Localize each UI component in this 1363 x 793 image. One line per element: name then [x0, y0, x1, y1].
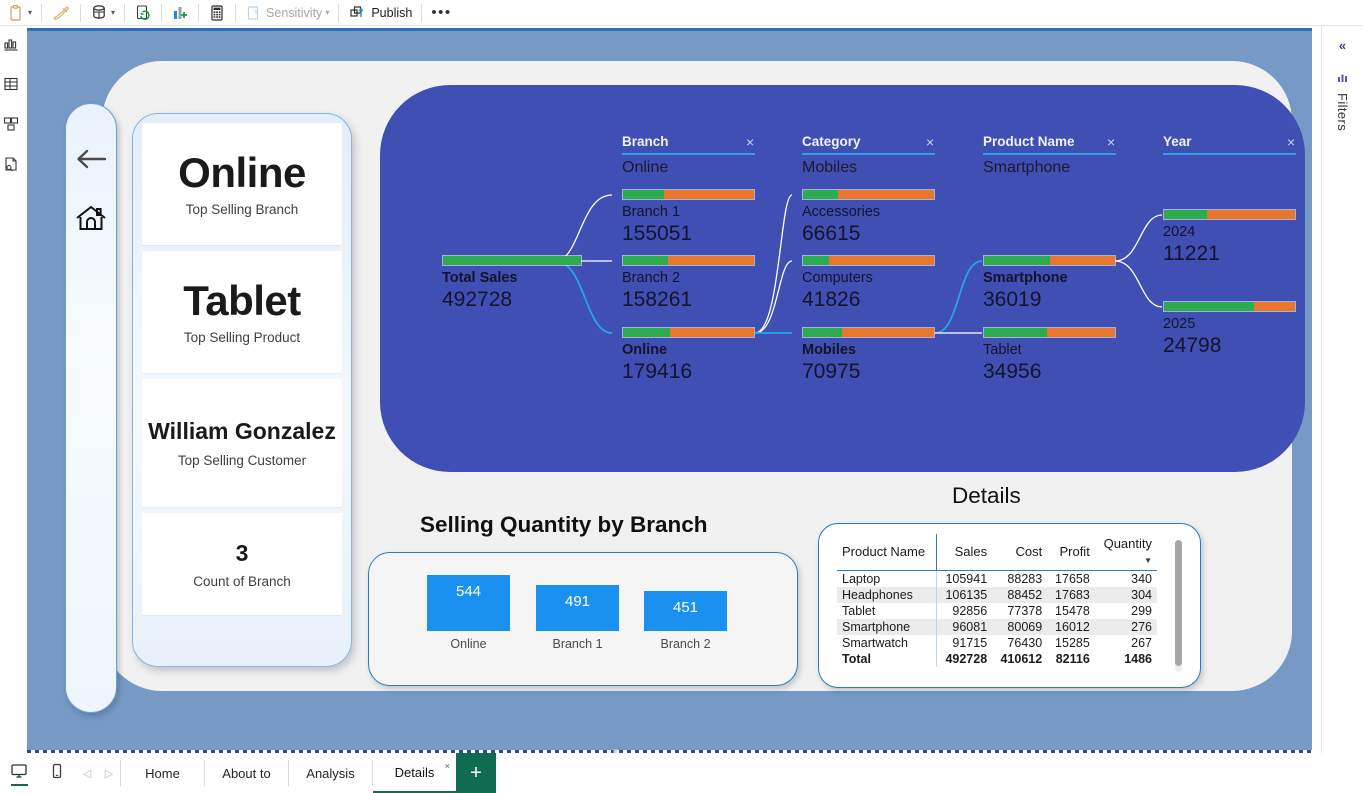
divider: [80, 4, 81, 22]
bar-category-label: Online: [450, 637, 486, 651]
publish-icon: [348, 4, 368, 22]
cell-cost: 80069: [992, 619, 1047, 635]
dtree-node-value: 158261: [622, 288, 755, 312]
dtree-remove-category-level[interactable]: ×: [926, 135, 934, 149]
back-arrow-icon: [74, 147, 108, 176]
dtree-node-online[interactable]: Online 179416: [622, 327, 755, 385]
bar-rect: 451: [644, 591, 727, 631]
dtree-node-value: 66615: [802, 222, 935, 246]
dtree-node-bar: [622, 189, 755, 200]
dtree-node-mobiles[interactable]: Mobiles 70975: [802, 327, 935, 385]
dtree-node-value: 36019: [983, 288, 1116, 312]
table-row[interactable]: Tablet 92856 77378 15478 299: [837, 603, 1157, 619]
dtree-node-label: Branch 2: [622, 270, 755, 287]
bar-branch-1[interactable]: 491 Branch 1: [536, 585, 619, 651]
cell-quantity: 267: [1095, 635, 1157, 651]
mobile-view-button[interactable]: [38, 753, 76, 793]
sensitivity-icon: [245, 4, 263, 22]
left-view-rail: [0, 26, 22, 793]
chevron-down-icon: ▾: [28, 9, 32, 17]
kpi-top-selling-branch[interactable]: Online Top Selling Branch: [142, 123, 342, 245]
mobile-view-icon: [48, 762, 66, 785]
overflow-label: •••: [431, 5, 451, 20]
dtree-remove-product-level[interactable]: ×: [1107, 135, 1115, 149]
dtree-header-branch[interactable]: Branch: [622, 134, 669, 149]
dtree-node-bar: [442, 255, 582, 266]
kpi-count-of-branch[interactable]: 3 Count of Branch: [142, 513, 342, 615]
kpi-caption: Top Selling Customer: [178, 453, 306, 468]
sort-descending-icon: ▼: [1144, 556, 1152, 565]
dtree-node-branch-1[interactable]: Branch 1 155051: [622, 189, 755, 247]
kpi-caption: Top Selling Branch: [186, 202, 299, 217]
cell-total-cost: 410612: [992, 651, 1047, 667]
cell-product: Headphones: [837, 587, 937, 603]
home-button[interactable]: [72, 202, 110, 240]
dtree-node-value: 41826: [802, 288, 935, 312]
desktop-view-icon: [10, 762, 28, 785]
cell-total-profit: 82116: [1047, 651, 1095, 667]
cell-sales: 105941: [937, 571, 993, 588]
dtree-node-label: Accessories: [802, 204, 935, 221]
cell-profit: 17683: [1047, 587, 1095, 603]
divider: [338, 4, 339, 22]
report-page-background: Online Top Selling Branch Tablet Top Sel…: [27, 28, 1312, 750]
page-navigation-pill: [65, 103, 117, 713]
kpi-caption: Count of Branch: [193, 574, 291, 589]
tab-analysis[interactable]: Analysis: [289, 753, 372, 793]
new-measure-button[interactable]: [201, 0, 233, 26]
dtree-node-smartphone[interactable]: Smartphone 36019: [983, 255, 1116, 313]
cell-sales: 92856: [937, 603, 993, 619]
cell-profit: 15478: [1047, 603, 1095, 619]
cell-sales: 91715: [937, 635, 993, 651]
dtree-node-value: 24798: [1163, 334, 1296, 358]
divider: [161, 4, 162, 22]
dtree-header-category[interactable]: Category: [802, 134, 861, 149]
new-visual-button[interactable]: [164, 0, 196, 26]
dtree-node-bar: [983, 255, 1116, 266]
dtree-node-bar: [1163, 209, 1296, 220]
table-row[interactable]: Smartphone 96081 80069 16012 276: [837, 619, 1157, 635]
divider: [124, 4, 125, 22]
selling-quantity-chart[interactable]: 544 Online 491 Branch 1 451 Branch 2: [368, 552, 798, 686]
prev-page-button[interactable]: ◁: [76, 753, 98, 793]
sensitivity-label: Sensitivity: [266, 6, 322, 20]
report-bar-icon[interactable]: [3, 36, 19, 52]
dtree-node-label: Tablet: [983, 342, 1116, 359]
cell-cost: 77378: [992, 603, 1047, 619]
cell-product: Smartwatch: [837, 635, 937, 651]
col-quantity[interactable]: Quantity ▼: [1095, 534, 1157, 571]
col-cost[interactable]: Cost: [992, 534, 1047, 571]
paintbrush-icon: [51, 4, 71, 22]
refresh-icon: [134, 4, 152, 22]
bar-branch-2[interactable]: 451 Branch 2: [644, 591, 727, 651]
cell-sales: 106135: [937, 587, 993, 603]
dtree-node-accessories[interactable]: Accessories 66615: [802, 189, 935, 247]
top-ribbon: ▾ ▾ Sensitivity ▾: [0, 0, 1363, 26]
new-visual-icon: [171, 4, 189, 22]
cell-product: Smartphone: [837, 619, 937, 635]
details-table-visual[interactable]: Product Name Sales Cost Profit Quantity …: [818, 523, 1201, 688]
tab-details[interactable]: Details ×: [373, 753, 456, 793]
get-data-button[interactable]: ▾: [83, 0, 122, 26]
table-row[interactable]: Laptop 105941 88283 17658 340: [837, 571, 1157, 588]
cell-sales: 96081: [937, 619, 993, 635]
divider: [198, 4, 199, 22]
cell-product: Laptop: [837, 571, 937, 588]
dtree-header-year[interactable]: Year: [1163, 134, 1192, 149]
dtree-underline: [802, 153, 935, 155]
more-options-button[interactable]: •••: [424, 0, 458, 26]
dtree-node-bar: [622, 255, 755, 266]
kpi-value: 3: [236, 540, 249, 567]
dtree-node-bar: [802, 255, 935, 266]
divider: [41, 4, 42, 22]
bar-rect: 491: [536, 585, 619, 631]
cell-product: Tablet: [837, 603, 937, 619]
col-profit[interactable]: Profit: [1047, 534, 1095, 571]
table-grid-icon[interactable]: [3, 76, 19, 92]
dtree-node-value: 155051: [622, 222, 755, 246]
dtree-node-value: 492728: [442, 288, 582, 312]
next-page-button[interactable]: ▷: [98, 753, 120, 793]
bar-online[interactable]: 544 Online: [427, 575, 510, 651]
dtree-underline: [1163, 153, 1296, 155]
filters-panel-collapsed: « Filters: [1321, 26, 1363, 753]
dtree-node-value: 34956: [983, 360, 1116, 384]
cell-total-sales: 492728: [937, 651, 993, 667]
dtree-node-label: Total Sales: [442, 270, 582, 287]
model-icon[interactable]: [3, 116, 19, 132]
table-row[interactable]: Smartwatch 91715 76430 15285 267: [837, 635, 1157, 651]
cell-quantity: 299: [1095, 603, 1157, 619]
kpi-value: Tablet: [183, 279, 301, 323]
dtree-node-total-sales[interactable]: Total Sales 492728: [442, 255, 582, 313]
bar-category-label: Branch 2: [660, 637, 710, 651]
kpi-caption: Top Selling Product: [184, 330, 300, 345]
dtree-node-label: Mobiles: [802, 342, 935, 359]
add-page-button[interactable]: +: [456, 753, 496, 793]
tab-home[interactable]: Home: [121, 753, 204, 793]
expand-filters-button[interactable]: «: [1339, 38, 1346, 53]
bar-value: 451: [673, 599, 698, 631]
clipboard-icon: [7, 4, 25, 22]
bar-category-label: Branch 1: [552, 637, 602, 651]
cell-total-quantity: 1486: [1095, 651, 1157, 667]
kpi-value: Online: [178, 151, 306, 195]
dtree-node-2025[interactable]: 2025 24798: [1163, 301, 1296, 359]
dtree-node-label: Computers: [802, 270, 935, 287]
publish-label: Publish: [371, 6, 412, 20]
dtree-node-value: 179416: [622, 360, 755, 384]
details-table: Product Name Sales Cost Profit Quantity …: [837, 534, 1157, 667]
bar-value: 544: [456, 583, 481, 631]
database-icon: [90, 4, 108, 22]
cell-cost: 88452: [992, 587, 1047, 603]
cell-cost: 88283: [992, 571, 1047, 588]
dtree-node-label: Online: [622, 342, 755, 359]
bar-rect: 544: [427, 575, 510, 631]
dtree-node-label: Smartphone: [983, 270, 1116, 287]
cell-profit: 17658: [1047, 571, 1095, 588]
chevron-down-icon: ▾: [325, 9, 329, 17]
cell-cost: 76430: [992, 635, 1047, 651]
dax-query-icon[interactable]: [3, 156, 19, 172]
sensitivity-button[interactable]: Sensitivity ▾: [238, 0, 336, 26]
table-row[interactable]: Headphones 106135 88452 17683 304: [837, 587, 1157, 603]
cell-quantity: 276: [1095, 619, 1157, 635]
cell-profit: 15285: [1047, 635, 1095, 651]
scrollbar-thumb[interactable]: [1175, 540, 1182, 666]
paste-button[interactable]: ▾: [0, 0, 39, 26]
dtree-selected-branch: Online: [622, 159, 668, 177]
decomposition-tree-visual[interactable]: Branch × Online Category × Mobiles Produ…: [380, 85, 1305, 472]
page-tab-bar: ◁ ▷ Home About to Analysis Details × +: [0, 753, 1363, 793]
dtree-header-product-name[interactable]: Product Name: [983, 134, 1075, 149]
col-quantity-label: Quantity: [1104, 536, 1152, 551]
cell-profit: 16012: [1047, 619, 1095, 635]
dtree-node-bar: [983, 327, 1116, 338]
close-icon[interactable]: ×: [445, 761, 450, 771]
back-button[interactable]: [72, 142, 110, 180]
dtree-node-tablet[interactable]: Tablet 34956: [983, 327, 1116, 385]
chevron-down-icon: ▾: [111, 9, 115, 17]
dtree-selected-category: Mobiles: [802, 159, 857, 177]
dtree-node-value: 70975: [802, 360, 935, 384]
format-painter-button[interactable]: [44, 0, 78, 26]
dtree-underline: [983, 153, 1116, 155]
tab-about-to[interactable]: About to: [205, 753, 288, 793]
table-header-row: Product Name Sales Cost Profit Quantity …: [837, 534, 1157, 571]
dtree-underline: [622, 153, 755, 155]
refresh-button[interactable]: [127, 0, 159, 26]
dtree-node-value: 11221: [1163, 242, 1296, 266]
desktop-view-button[interactable]: [0, 753, 38, 793]
details-table-scrollbar[interactable]: [1175, 540, 1182, 672]
dtree-node-bar: [1163, 301, 1296, 312]
dtree-node-bar: [622, 327, 755, 338]
dtree-remove-branch-level[interactable]: ×: [746, 135, 754, 149]
home-icon: [74, 204, 108, 239]
dtree-remove-year-level[interactable]: ×: [1287, 135, 1295, 149]
dtree-node-computers[interactable]: Computers 41826: [802, 255, 935, 313]
cell-quantity: 304: [1095, 587, 1157, 603]
cell-total-label: Total: [837, 651, 937, 667]
kpi-value: William Gonzalez: [148, 418, 336, 446]
divider: [421, 4, 422, 22]
dtree-node-label: 2024: [1163, 224, 1296, 241]
dtree-node-label: Branch 1: [622, 204, 755, 221]
dtree-node-2024[interactable]: 2024 11221: [1163, 209, 1296, 267]
col-product-name[interactable]: Product Name: [837, 534, 937, 571]
filter-funnel-icon[interactable]: [1336, 71, 1350, 85]
dtree-node-bar: [802, 327, 935, 338]
divider: [235, 4, 236, 22]
dtree-node-branch-2[interactable]: Branch 2 158261: [622, 255, 755, 313]
table-total-row: Total 492728 410612 82116 1486: [837, 651, 1157, 667]
details-title: Details: [952, 483, 1021, 509]
kpi-top-selling-customer[interactable]: William Gonzalez Top Selling Customer: [142, 379, 342, 507]
dtree-node-label: 2025: [1163, 316, 1296, 333]
filters-title[interactable]: Filters: [1335, 93, 1350, 131]
publish-button[interactable]: Publish: [341, 0, 419, 26]
calculator-icon: [208, 4, 226, 22]
bar-value: 491: [565, 593, 590, 631]
cell-quantity: 340: [1095, 571, 1157, 588]
tab-details-label: Details: [395, 765, 435, 780]
selling-quantity-title: Selling Quantity by Branch: [420, 512, 708, 538]
kpi-card-stack: Online Top Selling Branch Tablet Top Sel…: [132, 113, 352, 667]
dtree-node-bar: [802, 189, 935, 200]
dtree-selected-product: Smartphone: [983, 159, 1070, 177]
kpi-top-selling-product[interactable]: Tablet Top Selling Product: [142, 251, 342, 373]
col-sales[interactable]: Sales: [937, 534, 993, 571]
